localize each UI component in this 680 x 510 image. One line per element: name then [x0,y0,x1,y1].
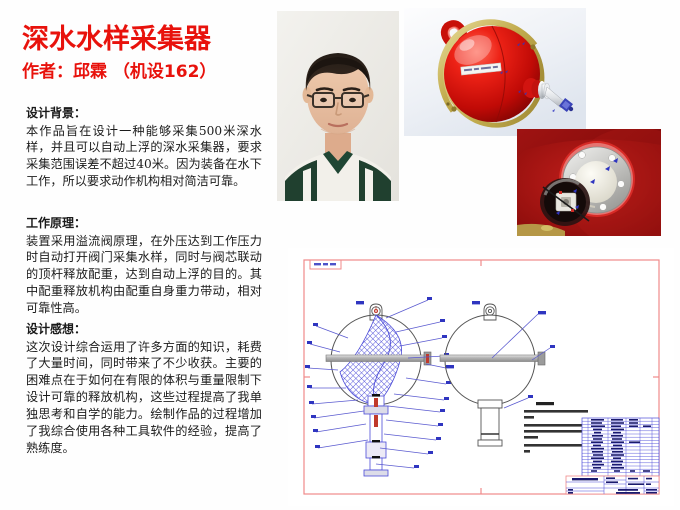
sphere-illustration [404,8,586,136]
text-column: 深水水样采集器 作者：邱霖 （机设162） 设计背景： 本作品旨在设计一种能够采… [0,0,272,510]
cad-illustration [288,248,674,506]
title-block [566,476,659,494]
portrait-illustration [277,11,399,201]
section-design-thoughts: 设计感想： 这次设计综合运用了许多方面的知识，耗费了大量时间，同时带来了不少收获… [26,322,262,456]
section-body: 这次设计综合运用了许多方面的知识，耗费了大量时间，同时带来了不少收获。主要的困难… [26,339,262,457]
sphere-body [444,26,540,122]
valve-detail-render: 阀门法兰局部三维渲染图 [517,129,661,236]
page-title: 深水水样采集器 [22,26,211,53]
sphere-3d-render: 深水水样采集器三维渲染图 [404,8,586,136]
section-heading: 工作原理： [26,216,262,232]
assembly-drawing: 技术要求 [288,248,674,506]
author-line: 作者：邱霖 （机设162） [22,62,216,82]
bom-table [582,418,659,476]
section-body: 本作品旨在设计一种能够采集500米深水样，并且可以自动上浮的深水采集器，要求采集… [26,123,262,190]
section-design-background: 设计背景： 本作品旨在设计一种能够采集500米深水样，并且可以自动上浮的深水采集… [26,106,262,190]
section-body: 装置采用溢流阀原理，在外压达到工作压力时自动打开阀门采集水样，同时与阀芯联动的顶… [26,233,262,317]
author-portrait-photo: 证件照 [277,11,399,201]
section-heading: 设计感想： [26,322,262,338]
poster-canvas: 深水水样采集器 作者：邱霖 （机设162） 设计背景： 本作品旨在设计一种能够采… [0,0,680,510]
section-working-principle: 工作原理： 装置采用溢流阀原理，在外压达到工作压力时自动打开阀门采集水样，同时与… [26,216,262,317]
detail-illustration [517,129,661,236]
section-heading: 设计背景： [26,106,262,122]
